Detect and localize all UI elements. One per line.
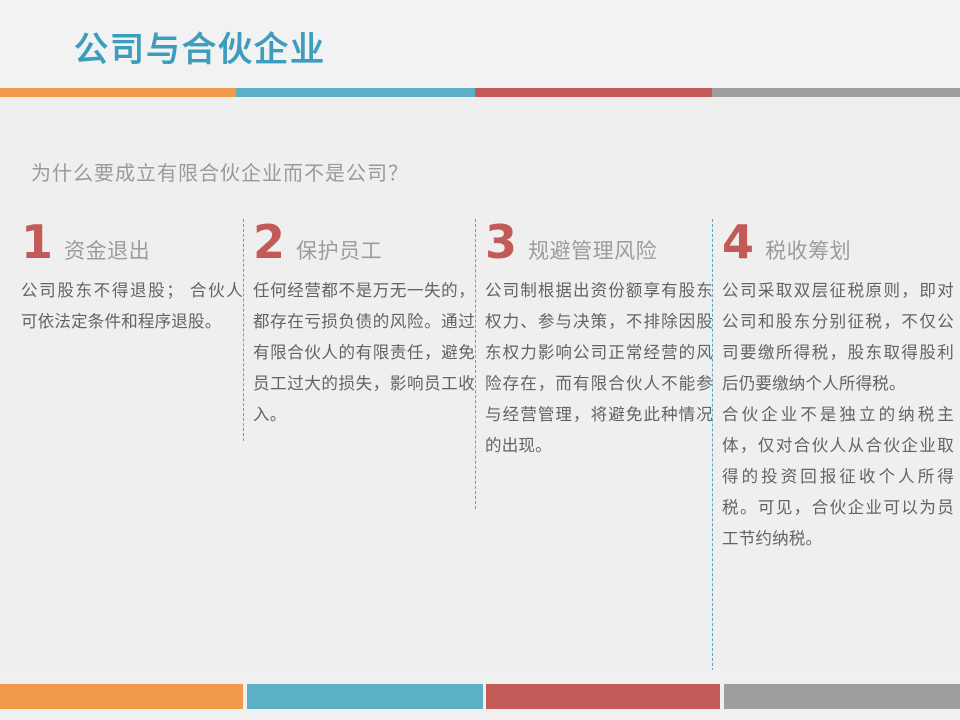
- header-rule-segment-orange: [0, 88, 236, 97]
- column-4-number: 4: [722, 219, 753, 265]
- column-3-number: 3: [485, 219, 516, 265]
- column-1-paragraph-1: 公司股东不得退股； 合伙人可依法定条件和程序退股。: [21, 275, 243, 337]
- footer-rule-segment-blue: [247, 684, 483, 709]
- footer-rule-segment-red: [486, 684, 720, 709]
- page-title: 公司与合伙企业: [74, 33, 326, 67]
- header-rule-segment-red: [475, 88, 712, 97]
- slide-body: 为什么要成立有限合伙企业而不是公司？ 1 资金退出 公司股东不得退股； 合伙人可…: [0, 97, 960, 670]
- column-2-paragraph-1: 任何经营都不是万无一失的，都存在亏损负债的风险。通过有限合伙人的有限责任，避免员…: [253, 275, 475, 430]
- column-1: 1 资金退出 公司股东不得退股； 合伙人可依法定条件和程序退股。: [21, 219, 243, 337]
- column-divider-1: [243, 219, 244, 441]
- column-1-heading: 1 资金退出: [21, 219, 243, 271]
- column-3-label: 规避管理风险: [528, 241, 657, 262]
- header-rule-segment-gray: [712, 88, 960, 97]
- column-2-label: 保护员工: [296, 241, 382, 262]
- column-4-body: 公司采取双层征税原则，即对公司和股东分别征税，不仅公司要缴所得税，股东取得股利后…: [722, 275, 954, 554]
- column-1-body: 公司股东不得退股； 合伙人可依法定条件和程序退股。: [21, 275, 243, 337]
- column-divider-2: [475, 219, 476, 509]
- slide-canvas: 公司与合伙企业 为什么要成立有限合伙企业而不是公司？ 1 资金退出 公司股东不得…: [0, 0, 960, 720]
- column-2: 2 保护员工 任何经营都不是万无一失的，都存在亏损负债的风险。通过有限合伙人的有…: [253, 219, 475, 430]
- footer-rule-segment-gray: [724, 684, 960, 709]
- column-3: 3 规避管理风险 公司制根据出资份额享有股东权力、参与决策，不排除因股东权力影响…: [485, 219, 713, 461]
- slide-subtitle: 为什么要成立有限合伙企业而不是公司？: [31, 157, 409, 186]
- header-rule-segment-blue: [236, 88, 475, 97]
- column-2-number: 2: [253, 219, 284, 265]
- column-3-paragraph-1: 公司制根据出资份额享有股东权力、参与决策，不排除因股东权力影响公司正常经营的风险…: [485, 275, 713, 461]
- column-2-heading: 2 保护员工: [253, 219, 475, 271]
- column-divider-3: [712, 219, 713, 681]
- slide-header: 公司与合伙企业: [0, 0, 960, 88]
- column-1-number: 1: [21, 219, 52, 265]
- column-4-heading: 4 税收筹划: [722, 219, 954, 271]
- slide-footer: [0, 670, 960, 720]
- column-1-label: 资金退出: [64, 241, 150, 262]
- footer-rule-segment-orange: [0, 684, 243, 709]
- column-3-heading: 3 规避管理风险: [485, 219, 713, 271]
- column-3-body: 公司制根据出资份额享有股东权力、参与决策，不排除因股东权力影响公司正常经营的风险…: [485, 275, 713, 461]
- column-2-body: 任何经营都不是万无一失的，都存在亏损负债的风险。通过有限合伙人的有限责任，避免员…: [253, 275, 475, 430]
- column-4-paragraph-1: 公司采取双层征税原则，即对公司和股东分别征税，不仅公司要缴所得税，股东取得股利后…: [722, 275, 954, 399]
- column-4-label: 税收筹划: [765, 241, 851, 262]
- column-4: 4 税收筹划 公司采取双层征税原则，即对公司和股东分别征税，不仅公司要缴所得税，…: [722, 219, 954, 554]
- column-4-paragraph-2: 合伙企业不是独立的纳税主体，仅对合伙人从合伙企业取得的投资回报征收个人所得税。可…: [722, 399, 954, 554]
